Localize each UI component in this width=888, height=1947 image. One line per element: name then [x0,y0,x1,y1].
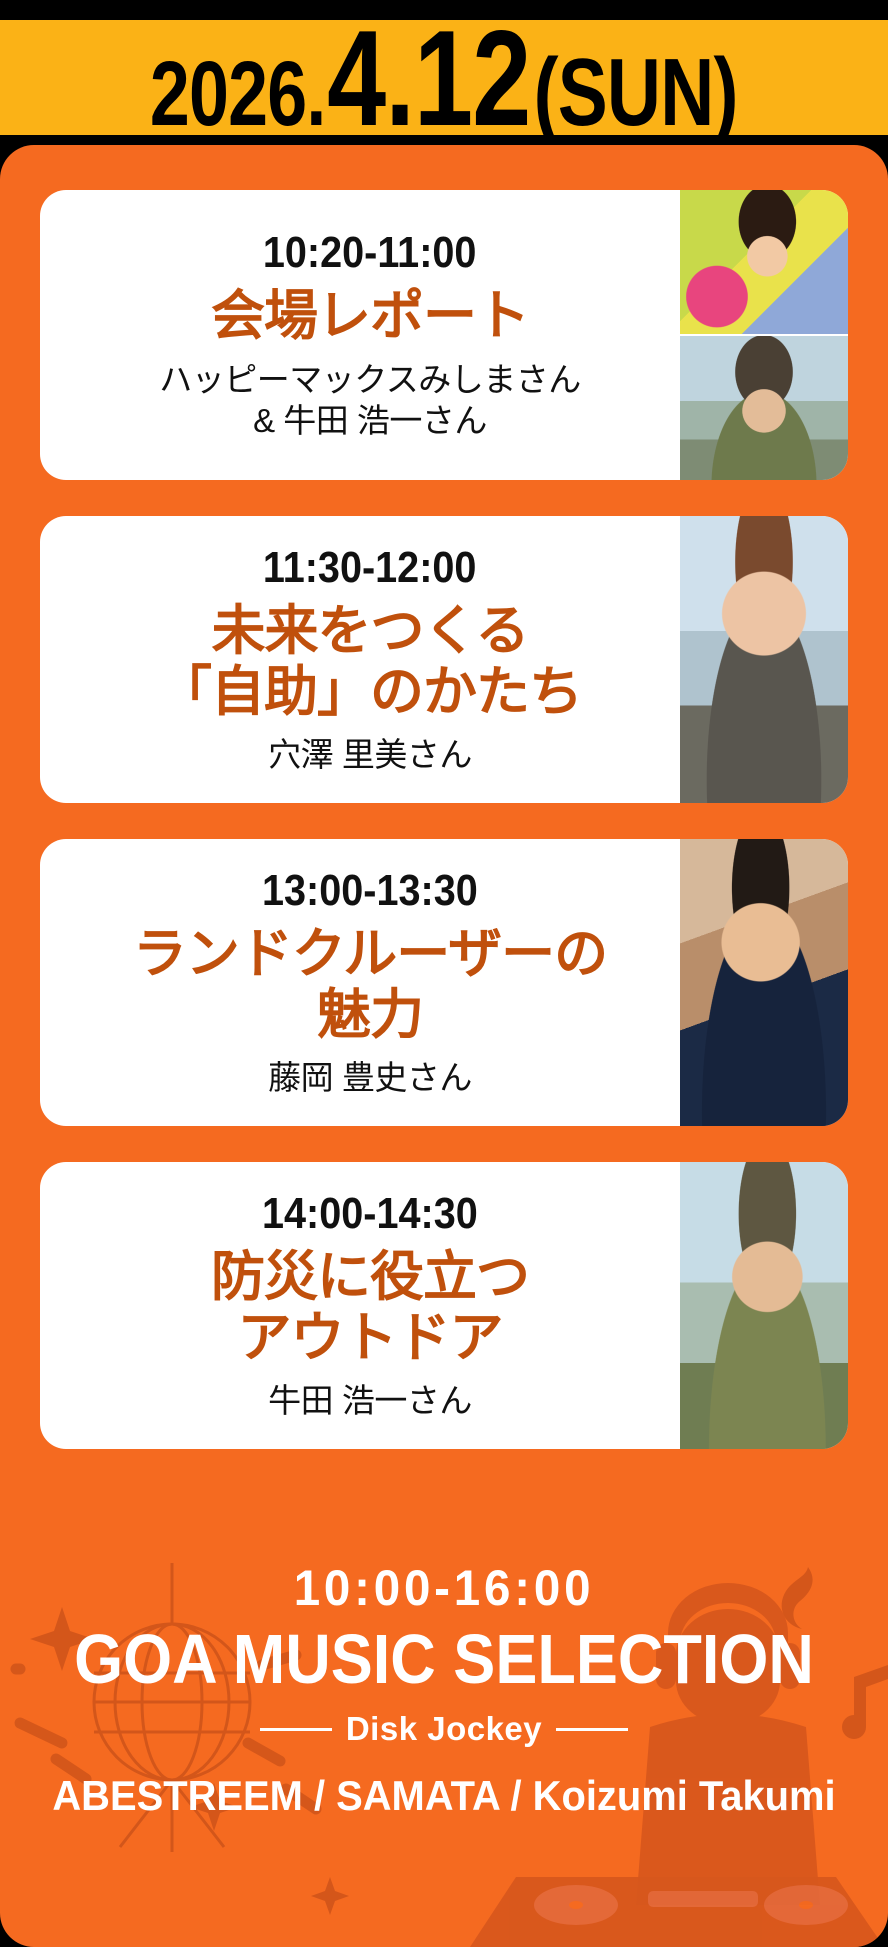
session-title: 防災に役立つ アウトドア [211,1247,529,1368]
dj-names: ABESTREEM / SAMATA / Koizumi Takumi [22,1772,866,1820]
session-card-body: 14:00-14:30 防災に役立つ アウトドア 牛田 浩一さん [40,1162,680,1449]
session-time: 14:00-14:30 [262,1190,478,1238]
session-card[interactable]: 14:00-14:30 防災に役立つ アウトドア 牛田 浩一さん [40,1162,848,1449]
rule-right [556,1728,628,1731]
session-title: 会場レポート [211,286,529,346]
session-title-line: 防災に役立つ [211,1247,529,1307]
date-day: 4.12 [327,10,530,146]
session-time: 10:20-11:00 [263,229,477,277]
dj-section: 10:00-16:00 GOA MUSIC SELECTION Disk Joc… [0,1547,888,1947]
session-photo-column [680,516,848,803]
rule-left [260,1728,332,1731]
mishima-portrait-photo [680,190,848,334]
session-speaker-line: 穴澤 里美さん [268,734,472,775]
schedule-panel: 10:20-11:00 会場レポート ハッピーマックスみしまさん & 牛田 浩一… [0,145,888,1947]
session-speakers: 牛田 浩一さん [268,1380,472,1421]
session-photo-column [680,839,848,1126]
session-speaker-line: & 牛田 浩一さん [159,400,581,441]
session-title: ランドクルーザーの 魅力 [133,924,607,1045]
session-photo-column [680,1162,848,1449]
date-day-of-week: (SUN) [534,45,738,141]
session-title-line: 「自助」のかたち [158,662,582,722]
session-card[interactable]: 10:20-11:00 会場レポート ハッピーマックスみしまさん & 牛田 浩一… [40,190,848,480]
session-card[interactable]: 13:00-13:30 ランドクルーザーの 魅力 藤岡 豊史さん [40,839,848,1126]
session-card[interactable]: 11:30-12:00 未来をつくる 「自助」のかたち 穴澤 里美さん [40,516,848,803]
anazawa-portrait-photo [680,516,848,803]
dj-title: GOA MUSIC SELECTION [44,1622,843,1696]
session-photo-column [680,190,848,480]
date-banner: 2026. 4.12 (SUN) [0,20,888,135]
ushida-portrait-photo [680,336,848,480]
ushida-portrait-photo [680,1162,848,1449]
dj-turntable-icon [470,1877,884,1947]
date-year: 2026. [150,48,326,140]
session-title-line: 会場レポート [211,286,529,346]
date-text: 2026. 4.12 (SUN) [150,10,738,146]
dj-text-block: 10:00-16:00 GOA MUSIC SELECTION Disk Joc… [0,1561,888,1820]
session-speakers: ハッピーマックスみしまさん & 牛田 浩一さん [159,359,581,442]
session-card-list: 10:20-11:00 会場レポート ハッピーマックスみしまさん & 牛田 浩一… [40,190,848,1485]
fujioka-portrait-photo [680,839,848,1126]
session-card-body: 10:20-11:00 会場レポート ハッピーマックスみしまさん & 牛田 浩一… [40,190,680,480]
session-speaker-line: 藤岡 豊史さん [268,1057,472,1098]
session-time: 13:00-13:30 [262,867,478,915]
session-speaker-line: ハッピーマックスみしまさん [159,359,581,400]
dj-time: 10:00-16:00 [22,1561,866,1616]
session-card-body: 11:30-12:00 未来をつくる 「自助」のかたち 穴澤 里美さん [40,516,680,803]
session-title-line: 未来をつくる [158,601,582,661]
session-speakers: 穴澤 里美さん [268,734,472,775]
session-card-body: 13:00-13:30 ランドクルーザーの 魅力 藤岡 豊史さん [40,839,680,1126]
session-time: 11:30-12:00 [263,544,477,592]
session-title: 未来をつくる 「自助」のかたち [158,601,582,722]
session-speakers: 藤岡 豊史さん [268,1057,472,1098]
dj-role-row: Disk Jockey [0,1710,888,1748]
session-title-line: ランドクルーザーの [133,924,607,984]
session-title-line: 魅力 [133,985,607,1045]
event-schedule-poster: 2026. 4.12 (SUN) 10:20-11:00 会場レポート ハッピー… [0,0,888,1947]
dj-role-label: Disk Jockey [346,1710,542,1748]
session-title-line: アウトドア [211,1308,529,1368]
session-speaker-line: 牛田 浩一さん [268,1380,472,1421]
